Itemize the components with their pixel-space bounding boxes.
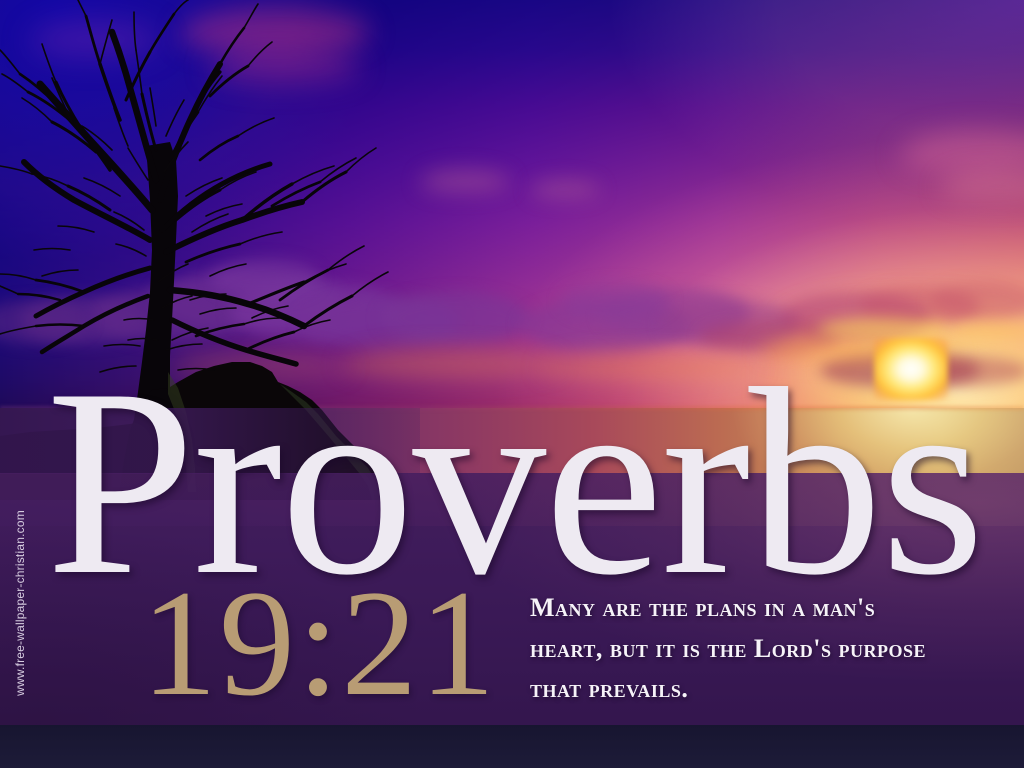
verse-text: Many are the plans in a man's heart, but…	[530, 588, 930, 710]
bottom-bar	[0, 725, 1024, 768]
watermark-url: www.free-wallpaper-christian.com	[13, 503, 27, 703]
tree-twigs	[0, 0, 388, 372]
wallpaper-canvas: Proverbs 19:21 Many are the plans in a m…	[0, 0, 1024, 768]
verse-reference: 19:21	[141, 567, 497, 719]
